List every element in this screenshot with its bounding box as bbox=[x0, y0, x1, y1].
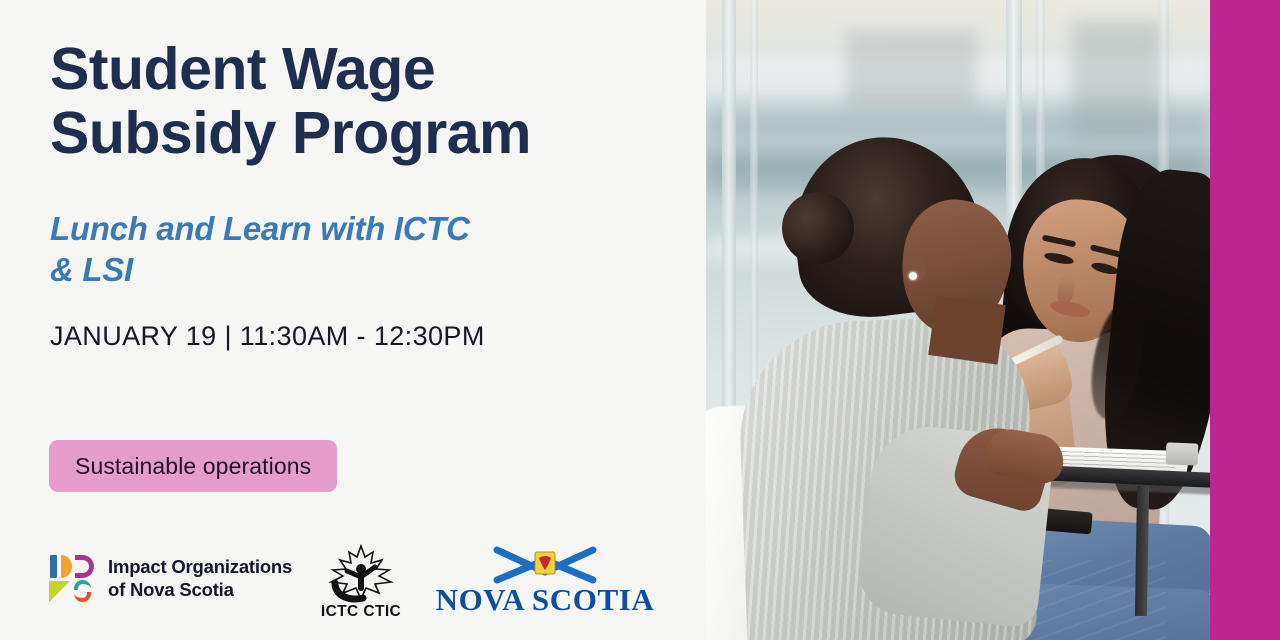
ictc-logo-text-right: CTIC bbox=[363, 603, 401, 620]
left-content-panel: Student Wage Subsidy Program Lunch and L… bbox=[0, 0, 706, 640]
impact-organizations-of-nova-scotia-logo: Impact Organizations of Nova Scotia bbox=[49, 552, 292, 604]
logo-row: Impact Organizations of Nova Scotia ICTC… bbox=[49, 540, 669, 625]
ictc-ctic-logo: ICTC.CTIC bbox=[311, 543, 411, 621]
ions-mark-icon bbox=[49, 552, 95, 604]
subtitle: Lunch and Learn with ICTC & LSI bbox=[50, 209, 610, 291]
ictc-logo-text: ICTC.CTIC bbox=[311, 603, 411, 621]
event-datetime: JANUARY 19 | 11:30AM - 12:30PM bbox=[50, 322, 670, 352]
students-studying-photo bbox=[706, 0, 1210, 640]
category-badge: Sustainable operations bbox=[49, 440, 337, 492]
category-badge-label: Sustainable operations bbox=[75, 453, 311, 480]
page-title: Student Wage Subsidy Program bbox=[50, 38, 670, 165]
nova-scotia-logo-text: NOVA SCOTIA bbox=[425, 582, 665, 618]
ions-logo-text: Impact Organizations of Nova Scotia bbox=[108, 555, 292, 601]
event-banner: Student Wage Subsidy Program Lunch and L… bbox=[0, 0, 1280, 640]
nova-scotia-logo: NOVA SCOTIA bbox=[425, 546, 665, 620]
accent-bar bbox=[1210, 0, 1280, 640]
ictc-maple-leaf-figure-icon bbox=[311, 543, 411, 603]
ictc-logo-text-left: ICTC bbox=[321, 603, 359, 620]
